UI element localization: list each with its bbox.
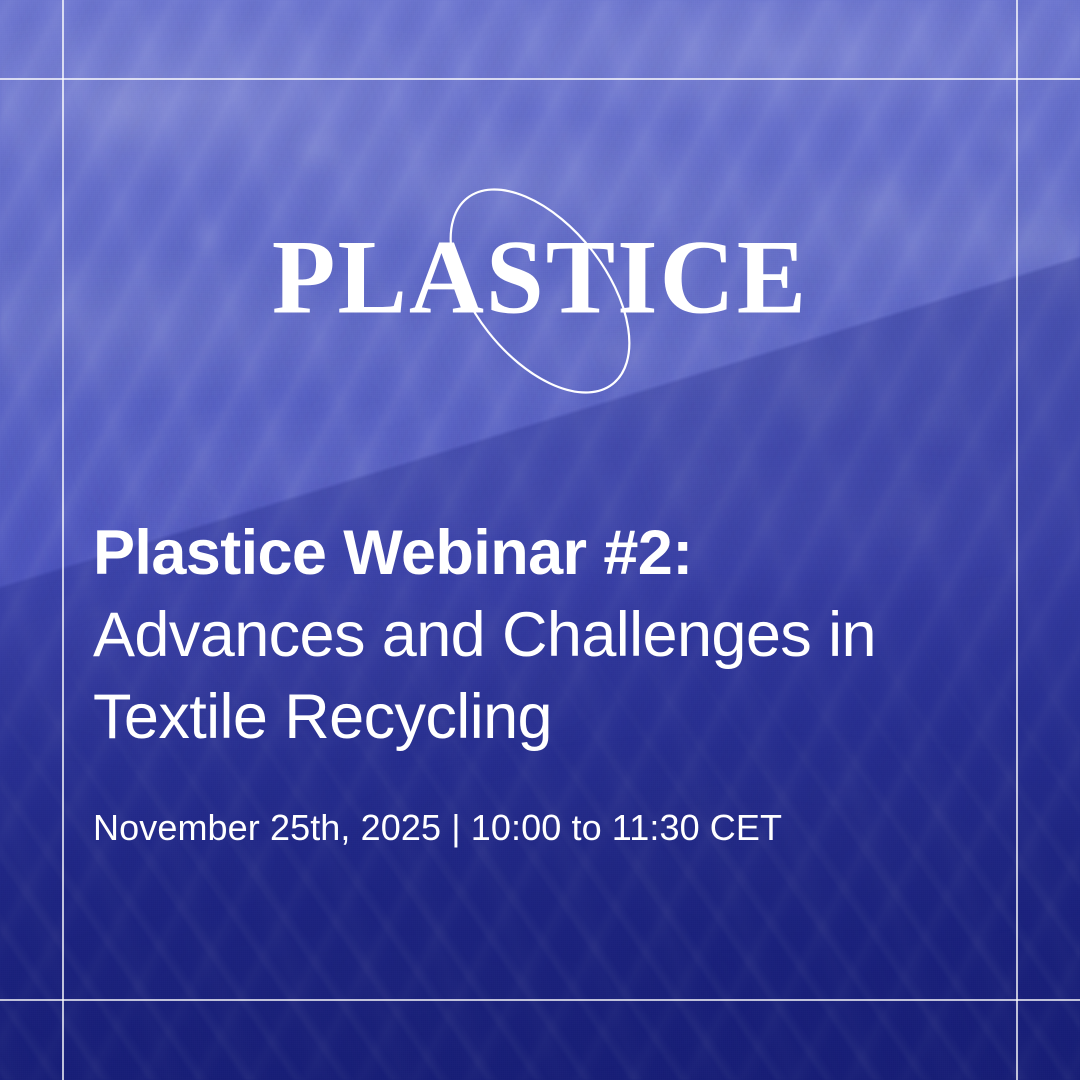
headline-line-3: Textile Recycling [93,676,923,758]
webinar-promo-poster: PLASTICE Plastice Webinar #2: Advances a… [0,0,1080,1080]
frame-line-bottom [0,999,1080,1001]
frame-line-top [0,78,1080,80]
frame-line-left [62,0,64,1080]
headline-line-2: Advances and Challenges in [93,594,923,676]
headline-block: Plastice Webinar #2: Advances and Challe… [93,512,923,758]
brand-wordmark: PLASTICE [0,225,1080,331]
page-title: Plastice Webinar #2: Advances and Challe… [93,512,923,758]
frame-line-right [1016,0,1018,1080]
event-dateline: November 25th, 2025 | 10:00 to 11:30 CET [93,806,782,849]
headline-line-1: Plastice Webinar #2: [93,512,923,594]
brand-logo-lockup: PLASTICE [0,168,1080,418]
